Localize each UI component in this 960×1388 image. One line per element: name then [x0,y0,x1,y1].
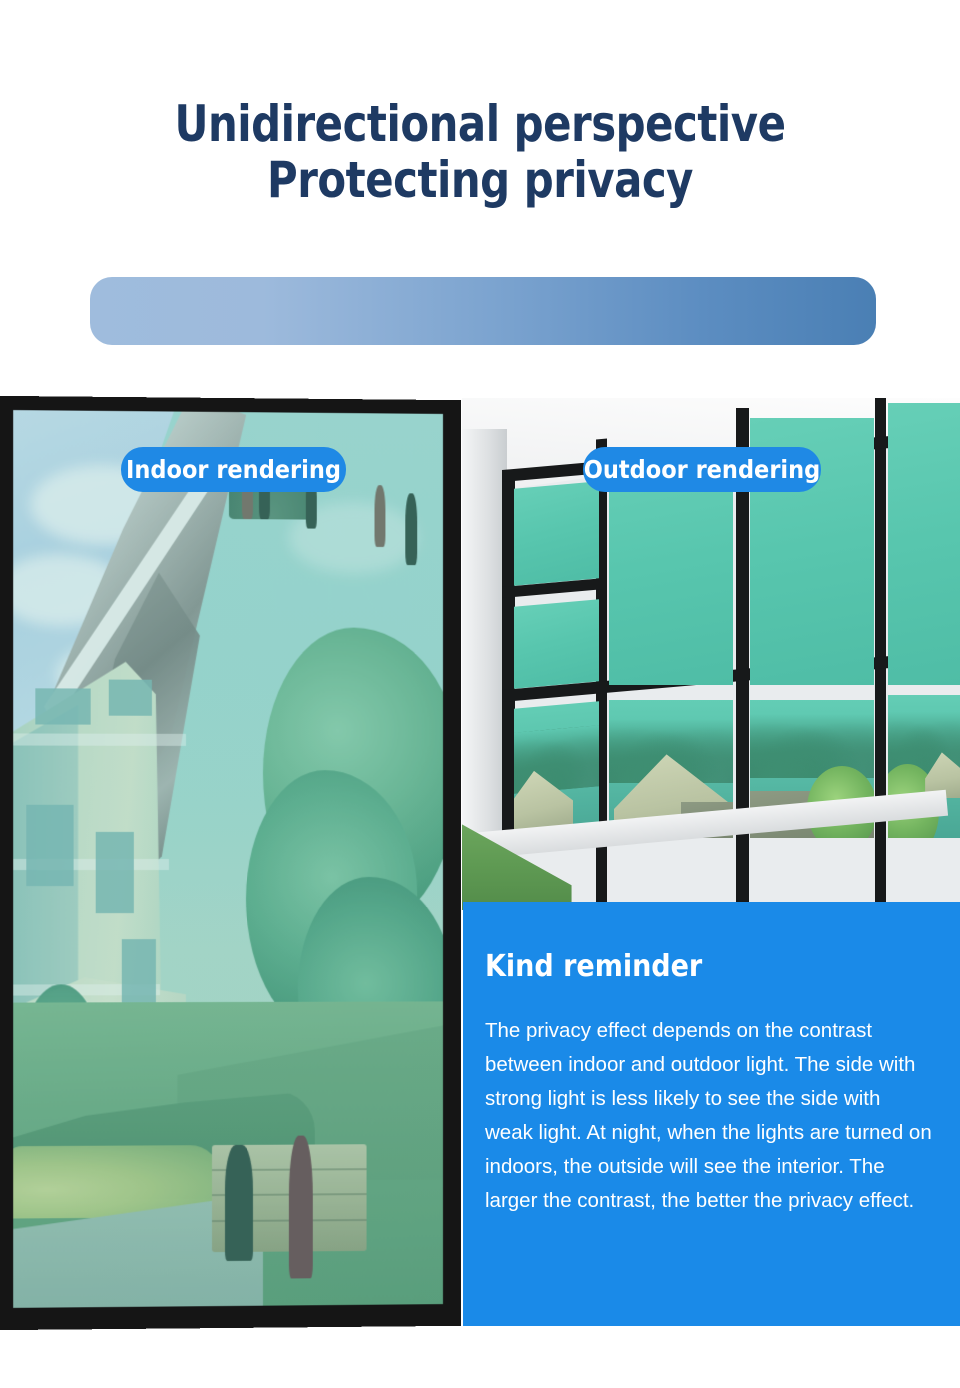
kind-reminder-body: The privacy effect depends on the contra… [485,1014,932,1218]
indoor-photo-content [13,410,443,1308]
standing-person [289,1136,313,1279]
glass-pane [514,481,599,586]
building-window [108,680,151,716]
building-window [95,832,134,913]
person-figure [375,485,386,547]
building-window [121,940,155,1003]
person-figure [405,494,417,565]
indoor-rendering-badge: Indoor rendering [121,447,346,492]
glass-pane [514,599,599,688]
kind-reminder-panel: Kind reminder The privacy effect depends… [463,902,960,1326]
kind-reminder-title: Kind reminder [485,950,932,984]
headline-line-1: Unidirectional perspective [34,96,927,152]
building-window [35,688,91,724]
building-cornice [13,733,186,746]
reflected-treeline [750,714,875,778]
headline-line-2: Protecting privacy [34,152,927,208]
glass-pane-reflection [514,701,599,842]
glass-pane [888,403,960,685]
window-frame-vertical [875,398,886,910]
seated-person [225,1145,253,1261]
indoor-rendering-photo [0,396,461,1330]
outdoor-rendering-badge: Outdoor rendering [583,447,821,492]
gradient-divider-bar [90,277,876,345]
building-window [26,805,74,886]
page-title: Unidirectional perspective Protecting pr… [0,96,960,208]
